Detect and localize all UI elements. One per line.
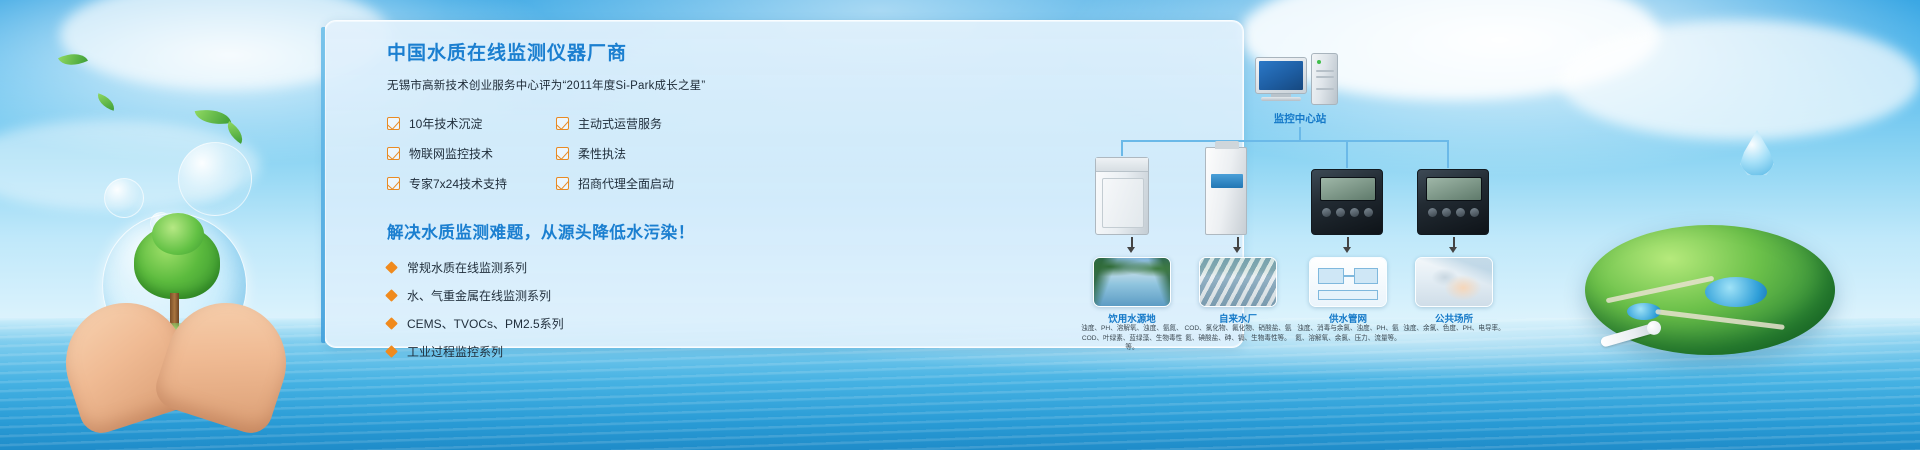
scene-description: 浊度、消毒与余氯、浊度、PH、氨氮、溶解氧、余氯、压力、流量等。 [1292,324,1404,343]
arrow-head-2 [1233,247,1241,253]
product-series-list: 常规水质在线监测系列 水、气重金属在线监测系列 CEMS、TVOCs、PM2.5… [387,259,767,360]
list-item-label: 工业过程监控系列 [407,343,503,360]
scene-label: 供水管网 [1288,311,1408,325]
list-item[interactable]: 水、气重金属在线监测系列 [387,287,767,304]
instrument-cabinet [1095,157,1149,235]
controller-buttons[interactable] [1322,208,1373,217]
list-item-label: 水、气重金属在线监测系列 [407,287,551,304]
diagram-line [1354,268,1378,284]
checkbox-icon [556,177,569,190]
arrow-head-3 [1343,247,1351,253]
diamond-bullet-icon [385,289,398,302]
connector-drop-1 [1121,140,1123,156]
list-item[interactable]: 常规水质在线监测系列 [387,259,767,276]
instrument-controller-1 [1311,169,1383,235]
monitoring-center-computer [1255,53,1345,111]
list-item[interactable]: 工业过程监控系列 [387,343,767,360]
plant-photo [1200,258,1276,306]
feature-label: 主动式运营服务 [578,115,662,132]
cloud-2 [1560,20,1920,140]
instrument-controller-2 [1417,169,1489,235]
controller-display [1426,177,1482,201]
checkbox-icon [387,117,400,130]
scene-thumbnail-water-network[interactable] [1309,257,1387,307]
diamond-bullet-icon [385,261,398,274]
analyzer-display [1211,174,1243,188]
diagram-line [1318,268,1344,284]
monitor-base [1261,97,1301,101]
scene-label: 公共场所 [1394,311,1514,325]
feature-item[interactable]: 柔性执法 [556,145,721,162]
scene-thumbnail-drinking-water-source[interactable] [1093,257,1171,307]
hands-holding-tree-illustration [60,195,290,450]
scene-description: 浊度、余氯、色度、PH、电导率。 [1398,324,1510,334]
controller-display [1320,177,1376,201]
arrow-head-4 [1449,247,1457,253]
monitor-icon [1255,57,1307,94]
feature-label: 专家7x24技术支持 [409,175,507,192]
center-station-label: 监控中心站 [1220,111,1380,126]
earth-road-1 [1606,276,1715,304]
page-subtitle: 无锡市高新技术创业服务中心评为“2011年度Si-Park成长之星” [387,77,767,93]
pipeline-diagram [1310,258,1386,306]
drive-slot [1316,70,1334,72]
tap-photo [1416,258,1492,306]
analyzer-cap [1215,141,1239,149]
connector-vertical-main [1299,127,1301,141]
feature-item[interactable]: 物联网监控技术 [387,145,552,162]
feature-label: 招商代理全面启动 [578,175,674,192]
drive-slot [1316,76,1334,78]
page-title: 中国水质在线监测仪器厂商 [387,43,767,66]
connector-drop-3 [1346,140,1348,168]
scene-description: COD、氯化物、氟化物、硝酸盐、氨氮、碘酸盐、砷、镉、生物毒性等。 [1182,324,1294,343]
feature-label: 柔性执法 [578,145,626,162]
scene-thumbnail-waterworks[interactable] [1199,257,1277,307]
arrow-head-1 [1127,247,1135,253]
earth-road-2 [1655,309,1785,330]
connector-horizontal-bus [1121,140,1447,142]
checkbox-icon [556,147,569,160]
scene-description: 浊度、PH、溶解氧、浊度、氨氮、COD、叶绿素、蓝绿藻、生物毒性等。 [1076,324,1188,353]
checkbox-icon [556,117,569,130]
power-led-icon [1317,60,1321,64]
feature-checklist: 10年技术沉淀 主动式运营服务 物联网监控技术 柔性执法 专家7x24技术支持 … [387,115,767,192]
monitor-screen [1259,61,1303,90]
diamond-bullet-icon [385,345,398,358]
earth-lake-1 [1705,277,1767,307]
feature-item[interactable]: 主动式运营服务 [556,115,721,132]
cabinet-door [1102,178,1144,228]
instrument-analyzer [1205,147,1247,235]
section-headline: 解决水质监测难题，从源头降低水污染！ [387,219,767,243]
diagram-line [1344,275,1354,277]
drive-slot [1316,88,1334,90]
checkbox-icon [387,177,400,190]
feature-item[interactable]: 专家7x24技术支持 [387,175,552,192]
panel-left-column: 中国水质在线监测仪器厂商 无锡市高新技术创业服务中心评为“2011年度Si-Pa… [387,43,767,360]
list-item-label: 常规水质在线监测系列 [407,259,527,276]
pc-tower-icon [1311,53,1338,105]
feature-label: 物联网监控技术 [409,145,493,162]
cabinet-top [1096,158,1148,172]
connector-drop-4 [1447,140,1449,168]
monitoring-system-diagram: 监控中心站 [1065,39,1545,339]
diamond-bullet-icon [385,317,398,330]
scene-label: 自来水厂 [1178,311,1298,325]
controller-buttons[interactable] [1428,208,1479,217]
list-item-label: CEMS、TVOCs、PM2.5系列 [407,315,564,332]
feature-item[interactable]: 招商代理全面启动 [556,175,721,192]
scene-label: 饮用水源地 [1072,311,1192,325]
river-photo [1094,258,1170,306]
feature-item[interactable]: 10年技术沉淀 [387,115,552,132]
tree-crown-top [152,213,204,255]
scene-thumbnail-public-place[interactable] [1415,257,1493,307]
diagram-line [1318,290,1378,300]
checkbox-icon [387,147,400,160]
content-panel: 中国水质在线监测仪器厂商 无锡市高新技术创业服务中心评为“2011年度Si-Pa… [324,20,1244,348]
feature-label: 10年技术沉淀 [409,115,482,132]
list-item[interactable]: CEMS、TVOCs、PM2.5系列 [387,315,767,332]
